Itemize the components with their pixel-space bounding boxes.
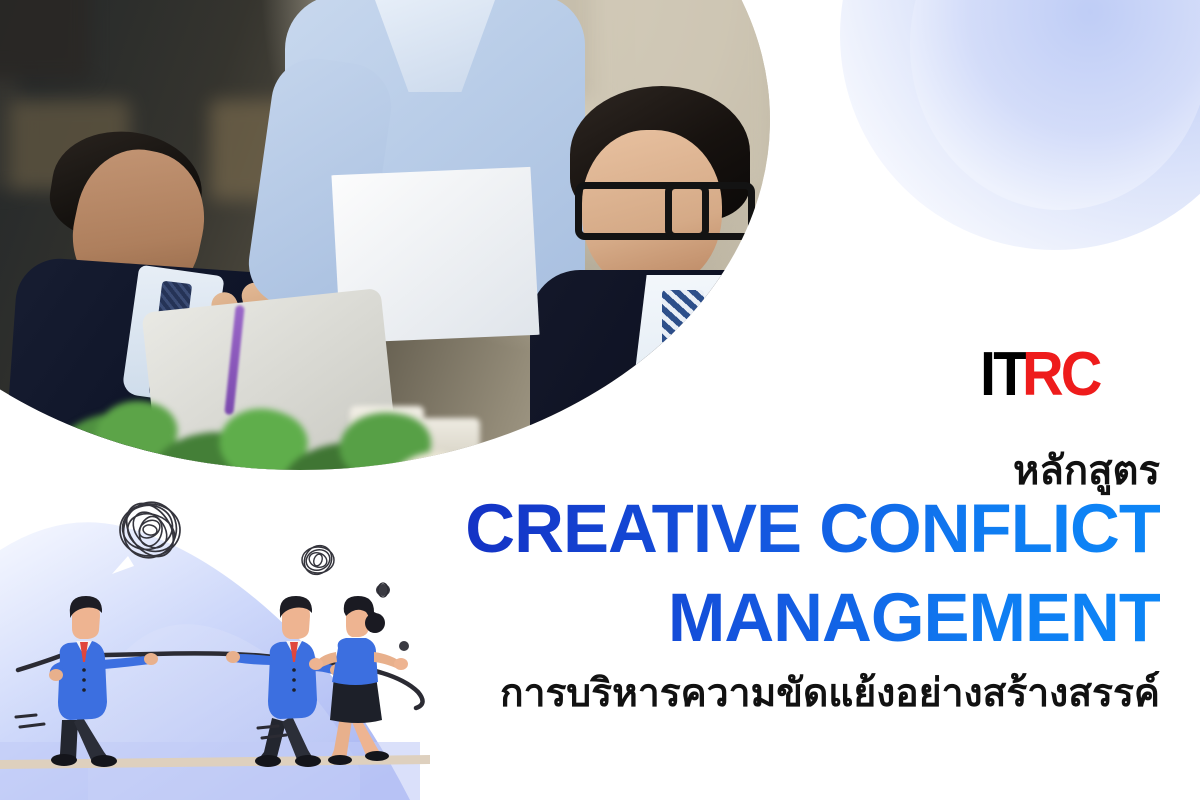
itrc-logo: ITRC xyxy=(980,344,1100,406)
man-left-button xyxy=(82,688,86,692)
hero-photo xyxy=(0,0,770,470)
man-left-button xyxy=(82,678,86,682)
man-left-shoe-front xyxy=(91,755,117,767)
man-right-glasses-right xyxy=(665,182,755,240)
logo-text-rc: RC xyxy=(1022,340,1100,409)
man-center-hand-back xyxy=(226,651,240,663)
man-center-shoe-front xyxy=(295,755,321,767)
foreground-plant xyxy=(30,398,480,470)
man-right-tie xyxy=(662,290,704,460)
man-left-shoe-back xyxy=(51,754,77,766)
woman-shoe-back xyxy=(328,755,352,765)
man-left-hand-back xyxy=(49,669,63,681)
woman-shoe-front xyxy=(365,751,389,761)
man-center-shoe-back xyxy=(255,755,281,767)
hero-photo-background xyxy=(0,0,770,470)
man-left-hand-front xyxy=(144,653,158,665)
man-left-button xyxy=(82,668,86,672)
course-subtitle-thai: การบริหารความขัดแย้งอย่างสร้างสรรค์ xyxy=(260,662,1160,724)
bokeh-panel xyxy=(0,0,90,80)
top-right-blob-inner-decoration xyxy=(910,0,1200,210)
title-line-2: MANAGEMENT xyxy=(220,583,1160,652)
logo-text-it: IT xyxy=(980,340,1026,409)
top-right-blob-decoration xyxy=(840,0,1200,250)
title-line-1: CREATIVE CONFLICT xyxy=(220,494,1160,563)
poster-canvas: ITRC หลักสูตร CREATIVE CONFLICT MANAGEME… xyxy=(0,0,1200,800)
